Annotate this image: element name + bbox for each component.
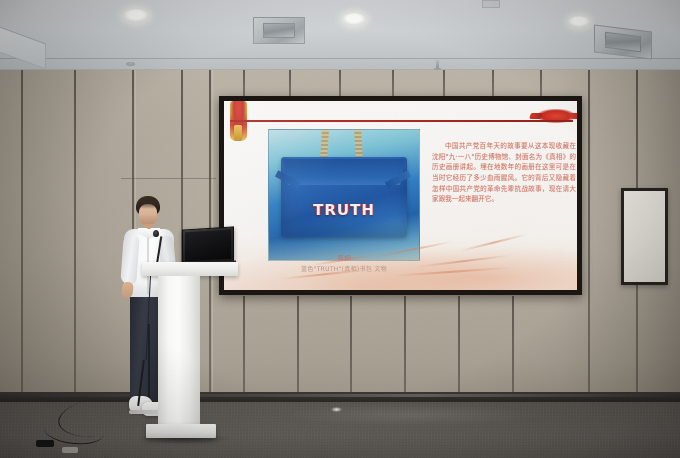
- presenter-trouser-seam: [148, 324, 150, 402]
- wall-panel-seam: [297, 296, 299, 394]
- floor-marker: [62, 447, 78, 453]
- wall-panel-seam: [289, 70, 291, 97]
- wall-panel-seam: [492, 70, 494, 97]
- lectern-base: [146, 424, 216, 438]
- ceiling-seam: [0, 58, 680, 59]
- presentation-slide: TRUTH 真相 蓝色"TRUTH"(真相)书包 文物 中国共产党百年天的故事要…: [224, 101, 577, 290]
- screen-surface: TRUTH 真相 蓝色"TRUTH"(真相)书包 文物 中国共产党百年天的故事要…: [224, 101, 577, 290]
- deco-stroke: [312, 254, 378, 266]
- floor-light-reflection: [280, 404, 540, 426]
- hvac-vent-left: [253, 17, 305, 44]
- slide-divider-rule: [230, 120, 573, 122]
- wall-panel-seam: [339, 70, 341, 97]
- bag-truth-text: TRUTH: [281, 201, 407, 219]
- wall-panel-seam: [243, 296, 245, 394]
- wall-panel-seam: [540, 70, 542, 98]
- deco-stroke: [392, 267, 512, 277]
- vent-slats: [607, 34, 638, 50]
- deco-stroke: [280, 269, 368, 280]
- vent-slats: [265, 25, 293, 37]
- ceiling: [0, 0, 680, 74]
- bag-body: TRUTH 真相: [281, 157, 407, 237]
- laptop-screen[interactable]: [185, 230, 231, 262]
- deco-stroke: [460, 233, 528, 252]
- wall-panel-seam: [350, 296, 352, 394]
- presenter-hair-fringe: [137, 201, 159, 209]
- bag-strap-right: [354, 130, 363, 160]
- slide-bottom-decoration: [224, 234, 577, 290]
- wall-panel-seam: [404, 296, 406, 394]
- floor-specular-highlight: [331, 407, 342, 412]
- wall-panel-seam: [392, 70, 394, 97]
- slide-body-text: 中国共产党百年天的故事要从这本现收藏在沈阳"九·一八"历史博物馆、封面名为《真相…: [432, 141, 576, 205]
- lectern-column: [158, 276, 200, 428]
- deco-stroke: [374, 241, 453, 258]
- smoke-detector: [126, 62, 135, 66]
- wall-framed-panel: [621, 188, 668, 285]
- deco-stroke: [416, 254, 512, 268]
- lectern-top: [142, 262, 238, 276]
- wall-panel-seam: [243, 70, 245, 98]
- wall-panel-seam: [458, 296, 460, 394]
- laptop-on-lectern[interactable]: [182, 226, 234, 265]
- microphone-head[interactable]: [153, 230, 159, 237]
- conference-room-photo: TRUTH 真相 蓝色"TRUTH"(真相)书包 文物 中国共产党百年天的故事要…: [0, 0, 680, 458]
- presenter-left-arm: [120, 236, 139, 285]
- downlight-1: [123, 9, 149, 22]
- square-light: [482, 0, 500, 8]
- downlight-2: [342, 13, 366, 25]
- bag-strap-left: [320, 130, 329, 160]
- wall-panel-seam: [443, 70, 445, 97]
- sprinkler-head: [436, 60, 439, 69]
- wall-panel-seam: [512, 296, 514, 394]
- downlight-3: [568, 16, 590, 27]
- projection-screen: TRUTH 真相 蓝色"TRUTH"(真相)书包 文物 中国共产党百年天的故事要…: [219, 96, 582, 295]
- cable-connector: [36, 440, 54, 447]
